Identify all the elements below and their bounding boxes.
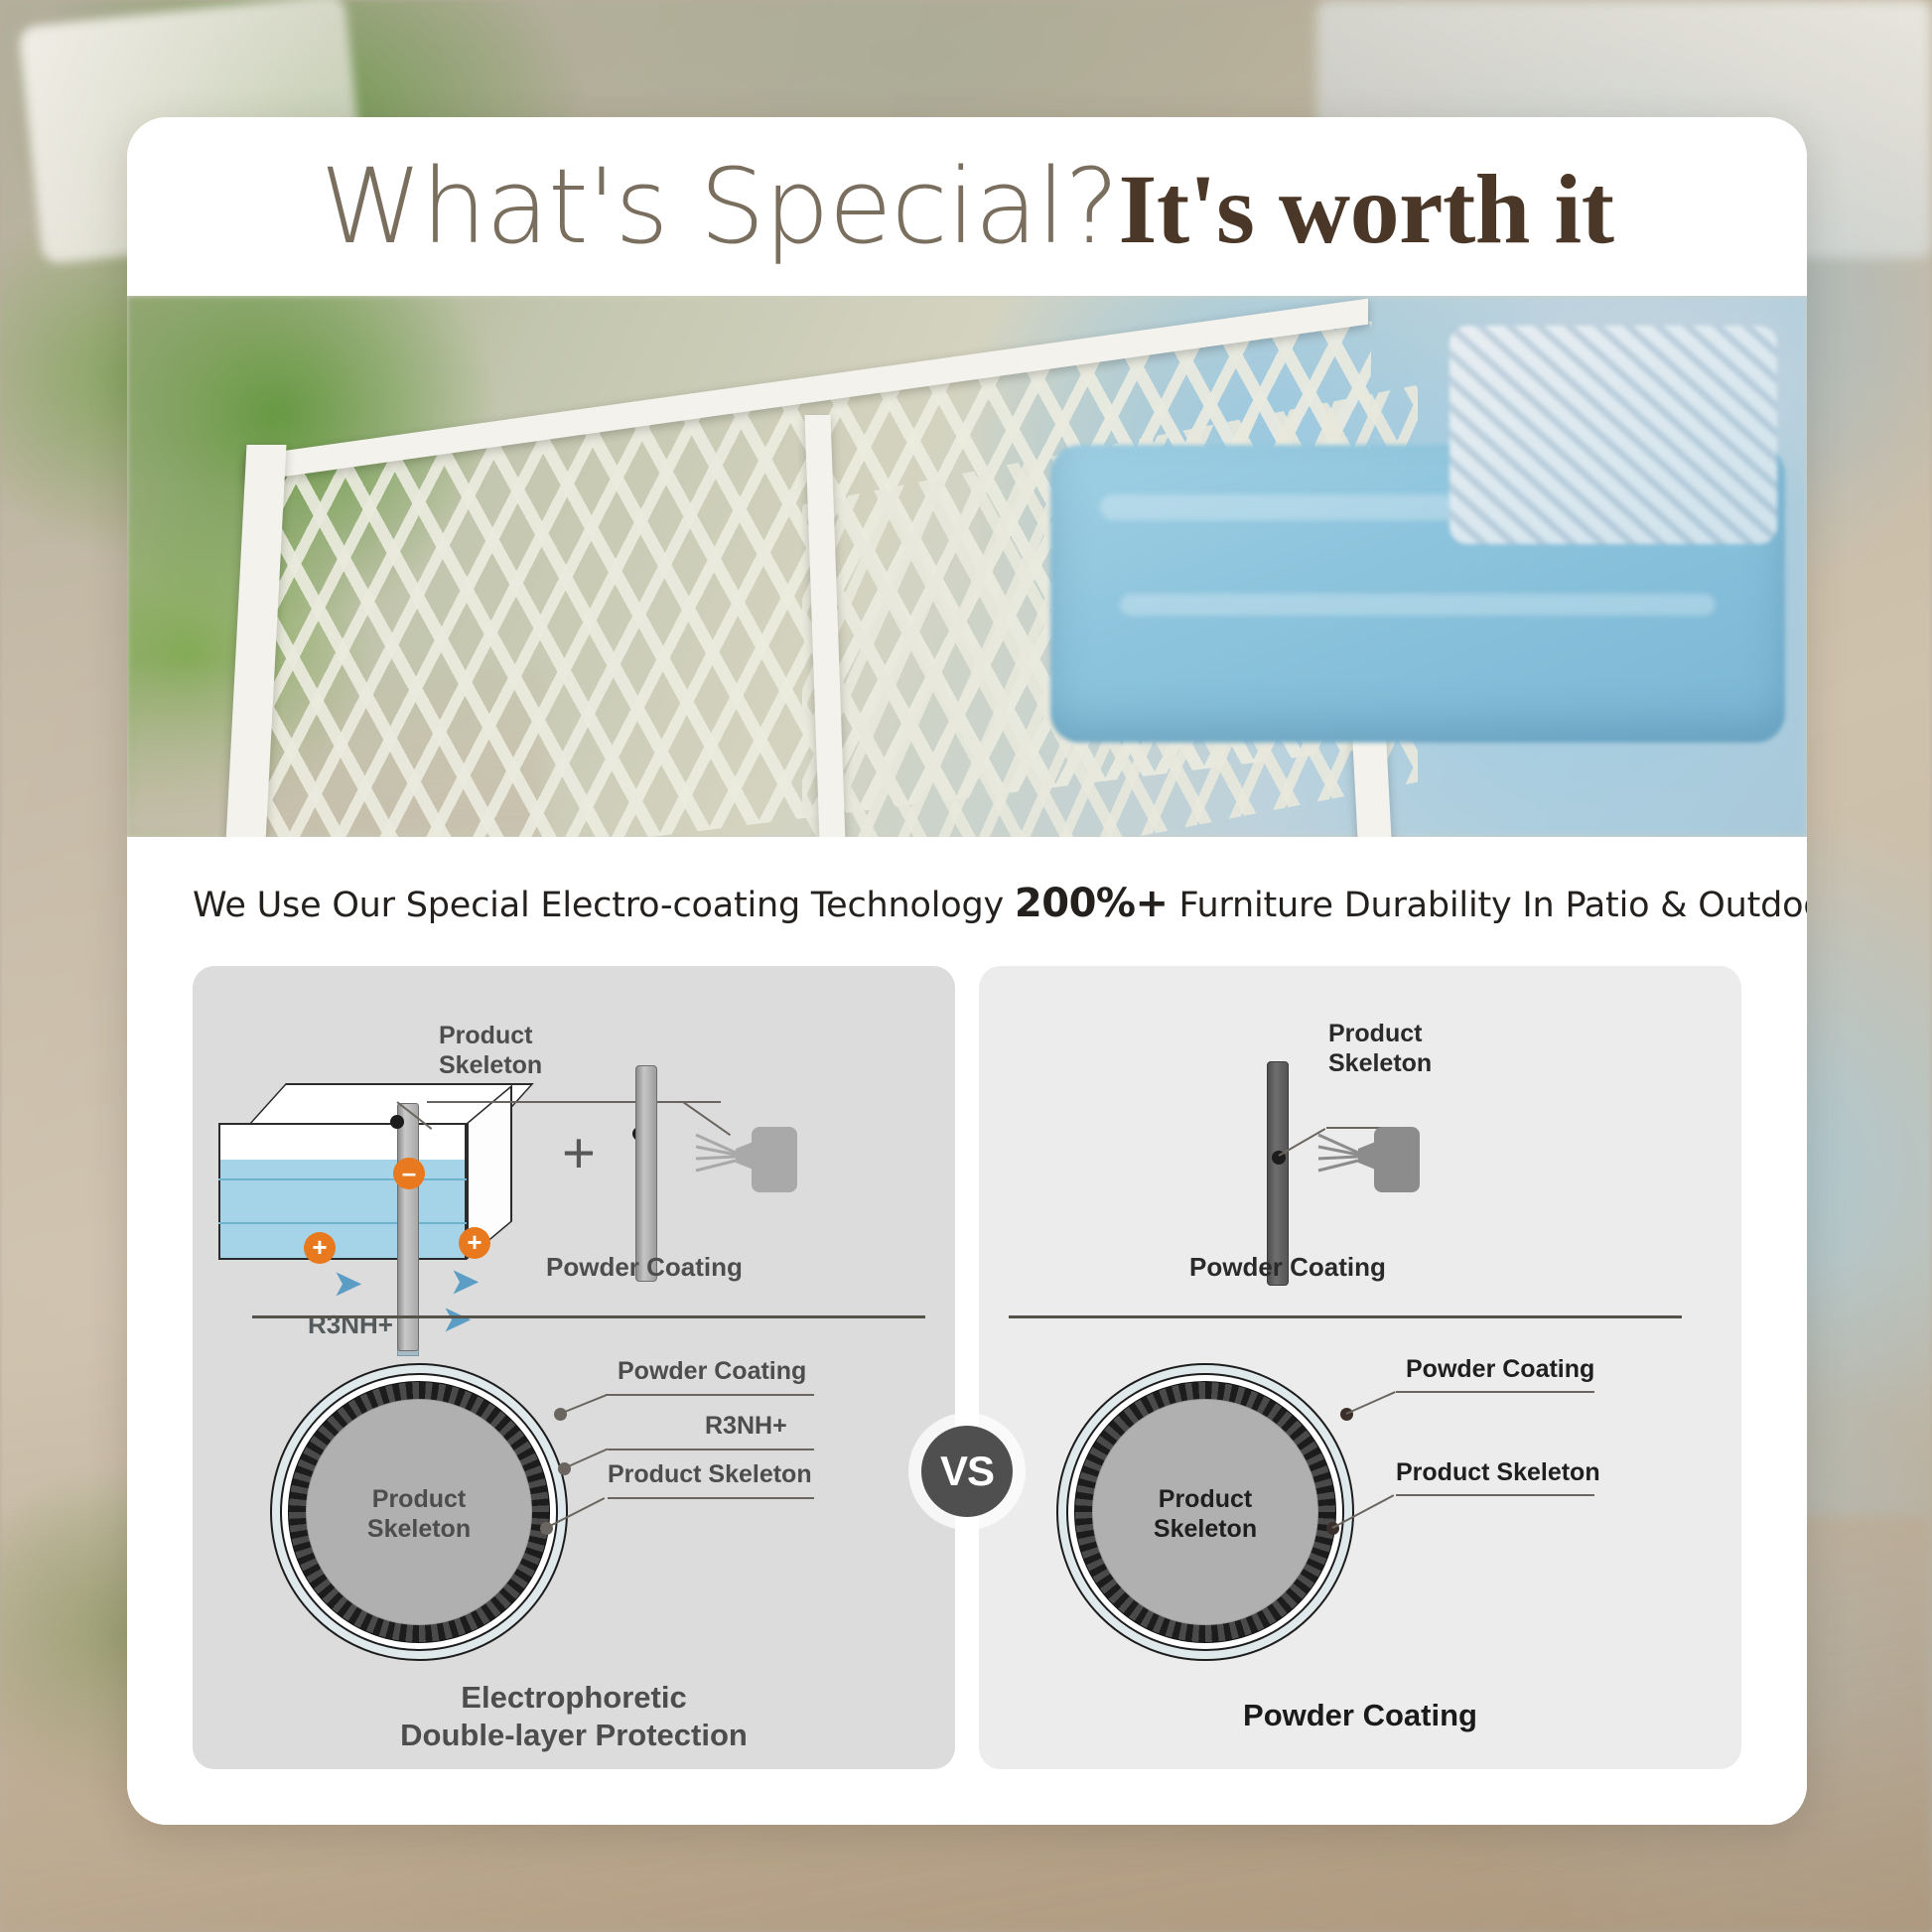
process-diagram-powder: Product Skeleton Powder Coating [979, 966, 1741, 1294]
leader-dot-skeleton-left [390, 1115, 404, 1129]
subtitle-highlight: 200%+ [1015, 881, 1169, 926]
cross-core-label-left: Product Skeleton [270, 1484, 568, 1544]
subtitle-before: We Use Our Special Electro-coating Techn… [193, 886, 1015, 925]
plus-sign-icon: + [562, 1125, 596, 1182]
label-product-skeleton-right: Product Skeleton [1328, 1020, 1432, 1078]
spray-gun-icon-left [694, 1113, 813, 1208]
panel-caption-right: Powder Coating [979, 1697, 1741, 1734]
cross-section-powder: Product Skeleton [1056, 1363, 1354, 1661]
panel-caption-left-line2: Double-layer Protection [193, 1717, 955, 1754]
flow-arrow-3: ➤ [443, 1300, 472, 1339]
cushion-fold-2 [1120, 594, 1716, 616]
title-question: What's Special? [320, 155, 1118, 258]
callout-line-skeleton-left [608, 1497, 814, 1499]
product-skeleton-rod-icon [397, 1103, 419, 1351]
card-content: We Use Our Special Electro-coating Techn… [127, 837, 1807, 1825]
panel-electrophoretic: – + + R3NH+ ➤ ➤ ➤ Product Skeleton [193, 966, 955, 1769]
callout-line-ion-left [608, 1449, 814, 1450]
panel-powder-coating: Product Skeleton Powder Coating [979, 966, 1741, 1769]
vs-badge-halo: VS [908, 1413, 1026, 1530]
callout-line-powder-left [606, 1394, 814, 1396]
panel-divider-left [252, 1315, 925, 1318]
cross-core-label-right: Product Skeleton [1056, 1484, 1354, 1544]
callout-line-powder-right [1396, 1391, 1594, 1393]
leader-line-skeleton-left [427, 1101, 721, 1103]
negative-charge-icon: – [393, 1158, 425, 1189]
panel-caption-left-line1: Electrophoretic [193, 1679, 955, 1717]
positive-charge-icon-1: + [304, 1232, 336, 1264]
panel-caption-left: Electrophoretic Double-layer Protection [193, 1679, 955, 1754]
infographic-card: What's Special? It's worth it We Use Our… [127, 117, 1807, 1825]
comparison-panels: – + + R3NH+ ➤ ➤ ➤ Product Skeleton [193, 966, 1741, 1769]
subtitle-after: Furniture Durability In Patio & Outdoor [1169, 886, 1807, 925]
label-powder-coating-right: Powder Coating [1189, 1252, 1386, 1283]
callout-powder-coating-left: Powder Coating [618, 1357, 806, 1386]
coated-rod-icon-left [635, 1065, 657, 1282]
flow-arrow-1: ➤ [334, 1264, 362, 1304]
callout-product-skeleton-left: Product Skeleton [608, 1460, 812, 1489]
tank-front-face [218, 1123, 467, 1260]
hero-photo [127, 296, 1807, 837]
panel-caption-right-line1: Powder Coating [979, 1697, 1741, 1734]
card-header: What's Special? It's worth it [127, 117, 1807, 296]
process-diagram-electrophoretic: – + + R3NH+ ➤ ➤ ➤ Product Skeleton [193, 966, 955, 1294]
label-product-skeleton-left: Product Skeleton [439, 1022, 542, 1080]
panel-divider-right [1009, 1315, 1682, 1318]
flow-arrow-2: ➤ [451, 1262, 480, 1302]
callout-line-skeleton-right [1396, 1494, 1594, 1496]
callout-diag-ion-left [564, 1449, 609, 1469]
title-statement: It's worth it [1118, 160, 1613, 259]
page-title: What's Special? It's worth it [320, 155, 1613, 259]
liquid-level-line-2 [218, 1222, 467, 1224]
positive-charge-icon-2: + [459, 1227, 490, 1259]
spray-gun-icon-right [1316, 1113, 1436, 1208]
vs-badge: VS [921, 1426, 1013, 1517]
electrophoresis-tank-icon: – + + R3NH+ ➤ ➤ ➤ [248, 1083, 536, 1262]
label-powder-coating-left: Powder Coating [546, 1252, 743, 1283]
patterned-pillow [1449, 326, 1777, 544]
ion-label: R3NH+ [308, 1310, 393, 1340]
liquid-level-line-1 [218, 1178, 467, 1180]
callout-product-skeleton-right: Product Skeleton [1396, 1458, 1600, 1487]
cross-section-electrophoretic: Product Skeleton [270, 1363, 568, 1661]
subtitle: We Use Our Special Electro-coating Techn… [193, 881, 1741, 926]
callout-ion-left: R3NH+ [705, 1412, 787, 1441]
callout-powder-coating-right: Powder Coating [1406, 1355, 1594, 1384]
